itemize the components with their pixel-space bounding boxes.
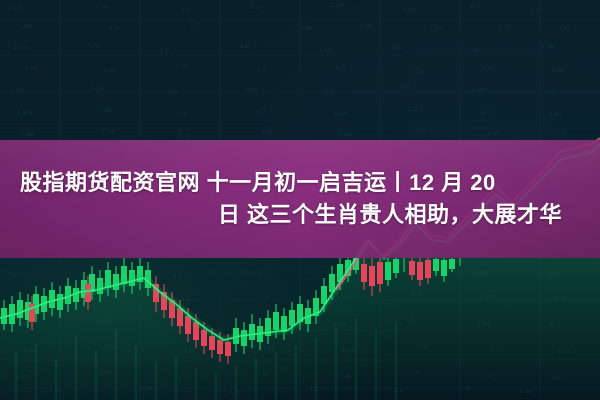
headline-line-1: 股指期货配资官网 十一月初一启吉运丨12 月 20 xyxy=(20,170,496,196)
headline-line-2: 日 这三个生肖贵人相助，大展才华 xyxy=(218,202,562,228)
headline-block: 股指期货配资官网 十一月初一启吉运丨12 月 20 日 这三个生肖贵人相助，大展… xyxy=(0,140,600,258)
screenshot-root: 0.98711,2040.23 3.11712,0450.554 89.021.… xyxy=(0,0,600,400)
